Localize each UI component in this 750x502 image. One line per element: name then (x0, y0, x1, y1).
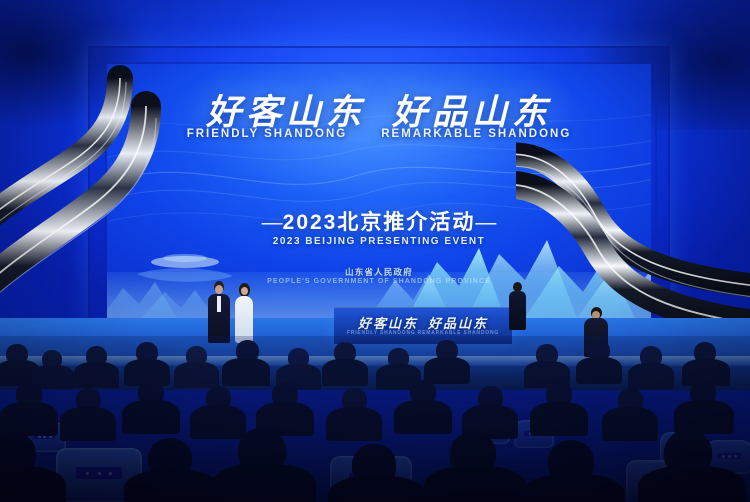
event-photo-scene: 好客山东好品山东 FRIENDLY SHANDONGREMARKABLE SHA… (0, 0, 750, 502)
photo-vignette (0, 0, 750, 502)
